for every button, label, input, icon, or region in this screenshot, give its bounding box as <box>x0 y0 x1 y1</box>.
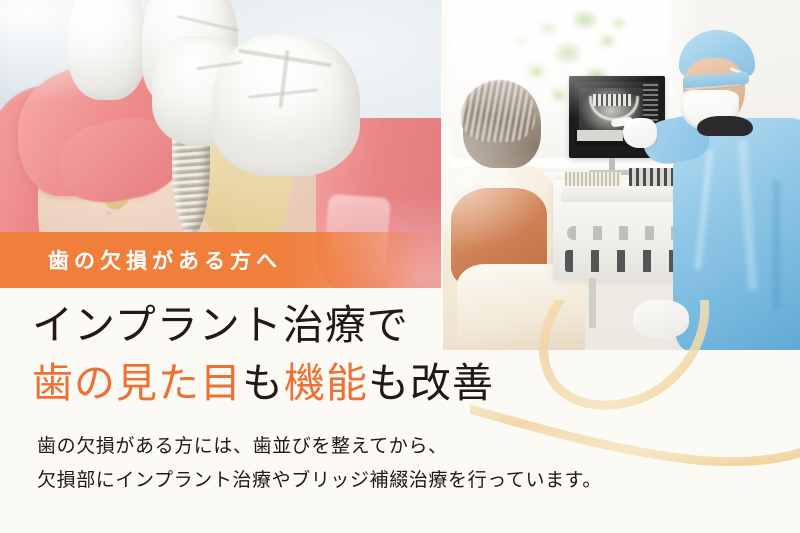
gown-fold <box>773 180 780 310</box>
headline-accent-function: 機能 <box>284 360 368 406</box>
headline-suffix-improve: も改善 <box>368 360 494 406</box>
xray-teeth-row <box>593 94 631 106</box>
body-line-2: 欠損部にインプラント治療やブリッジ補綴治療を行っています。 <box>37 464 602 498</box>
implant-fixture-set <box>565 172 621 186</box>
handpiece-holders <box>565 250 683 272</box>
dentist-collar <box>697 116 753 136</box>
headline-particle-1: も <box>242 360 284 406</box>
cart-control-knobs <box>567 226 677 240</box>
page-title: インプラント治療で 歯の見た目も機能も改善 <box>32 296 494 412</box>
dentist-explaining-xray-photo <box>443 0 800 350</box>
instrument-tray <box>561 186 687 202</box>
body-text: 歯の欠損がある方には、歯並びを整えてから、 欠損部にインプラント治療やブリッジ補… <box>37 430 602 498</box>
headline-line-2: 歯の見た目も機能も改善 <box>32 354 494 412</box>
screen-info-strip <box>577 130 623 141</box>
body-line-1: 歯の欠損がある方には、歯並びを整えてから、 <box>37 430 602 464</box>
headline-line-1: インプラント治療で <box>32 296 494 354</box>
eyebrow-ribbon: 歯の欠損がある方へ <box>0 232 452 288</box>
dentist-gloved-hand-resting <box>633 300 689 338</box>
implant-treatment-banner: 歯の欠損がある方へ インプラント治療で 歯の見た目も機能も改善 歯の欠損がある方… <box>0 0 800 533</box>
eyebrow-label: 歯の欠損がある方へ <box>48 245 282 275</box>
cart-post <box>589 278 596 328</box>
patient-hair <box>461 80 535 142</box>
headline-accent-appearance: 歯の見た目 <box>32 360 242 406</box>
